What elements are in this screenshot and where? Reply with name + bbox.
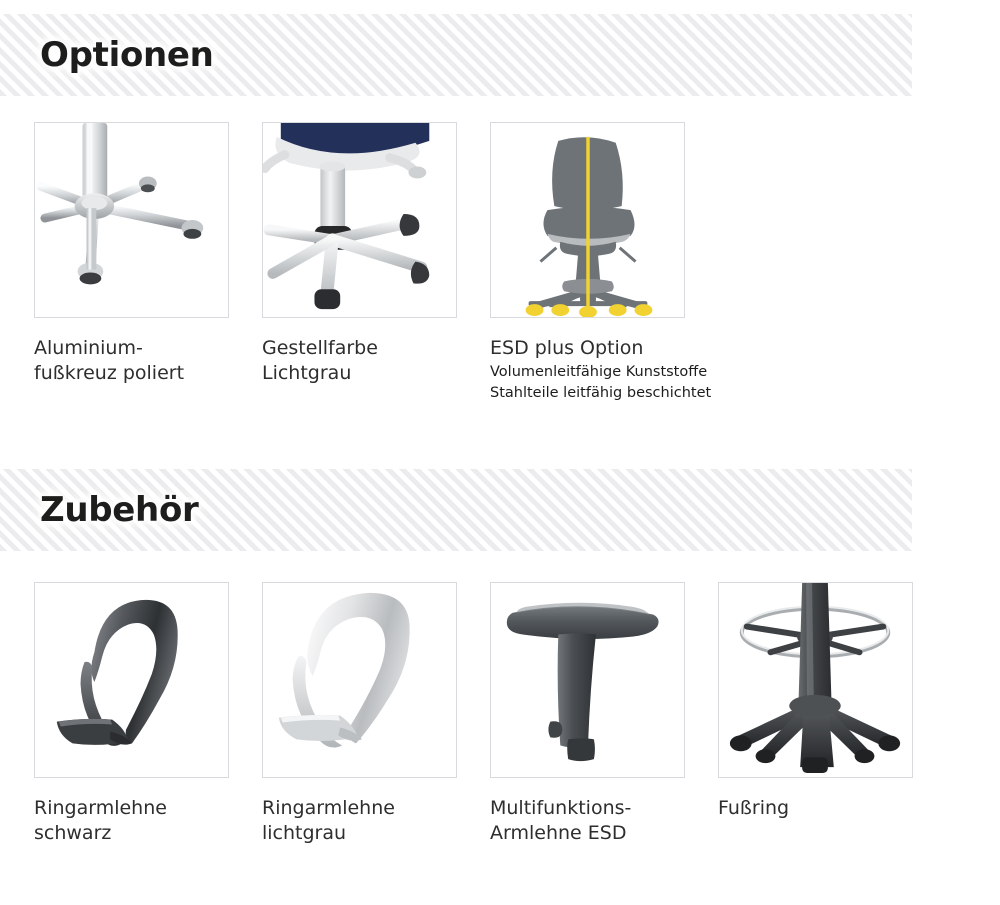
ring-armrest-light-grey-illustration: [263, 583, 456, 777]
footring-illustration: [719, 583, 912, 777]
chair-base-polished-aluminium-illustration: [35, 123, 228, 317]
accessory-card-multifunction-armrest-esd[interactable]: [490, 582, 685, 778]
accessory-caption-ring-armrest-light-grey: Ringarmlehne lichtgrau: [262, 796, 522, 846]
caption-line: Lichtgrau: [262, 361, 522, 386]
accessory-card-ring-armrest-black[interactable]: [34, 582, 229, 778]
caption-line: Aluminium-: [34, 336, 294, 361]
option-caption-aluminium-base: Aluminium- fußkreuz poliert: [34, 336, 294, 386]
caption-line: lichtgrau: [262, 821, 522, 846]
section-band-optionen: Optionen: [0, 14, 912, 96]
option-card-light-grey-base[interactable]: [262, 122, 457, 318]
caption-line: Gestellfarbe: [262, 336, 522, 361]
option-card-esd-plus[interactable]: [490, 122, 685, 318]
ring-armrest-black-illustration: [35, 583, 228, 777]
multifunction-armrest-esd-illustration: [491, 583, 684, 777]
section-title-zubehoer: Zubehör: [40, 490, 199, 530]
esd-chair-icon-illustration: [491, 123, 684, 317]
accessory-card-footring[interactable]: [718, 582, 913, 778]
accessory-caption-multifunction-armrest-esd: Multifunktions- Armlehne ESD: [490, 796, 750, 846]
section-band-zubehoer: Zubehör: [0, 469, 912, 551]
accessory-card-ring-armrest-light-grey[interactable]: [262, 582, 457, 778]
caption-subline: Stahlteile leitfähig beschichtet: [490, 383, 790, 403]
caption-line: Multifunktions-: [490, 796, 750, 821]
option-caption-esd-plus: ESD plus Option Volumenleitfähige Kunsts…: [490, 336, 790, 403]
option-card-aluminium-base[interactable]: [34, 122, 229, 318]
chair-base-light-grey-illustration: [263, 123, 456, 317]
caption-line: fußkreuz poliert: [34, 361, 294, 386]
caption-line: Ringarmlehne: [262, 796, 522, 821]
option-caption-light-grey-base: Gestellfarbe Lichtgrau: [262, 336, 522, 386]
caption-line: Ringarmlehne: [34, 796, 294, 821]
caption-subline: Volumenleitfähige Kunststoffe: [490, 362, 790, 382]
caption-line: ESD plus Option: [490, 336, 790, 361]
caption-line: Fußring: [718, 796, 978, 821]
section-title-optionen: Optionen: [40, 35, 214, 75]
caption-line: Armlehne ESD: [490, 821, 750, 846]
accessory-caption-footring: Fußring: [718, 796, 978, 821]
accessory-caption-ring-armrest-black: Ringarmlehne schwarz: [34, 796, 294, 846]
caption-line: schwarz: [34, 821, 294, 846]
